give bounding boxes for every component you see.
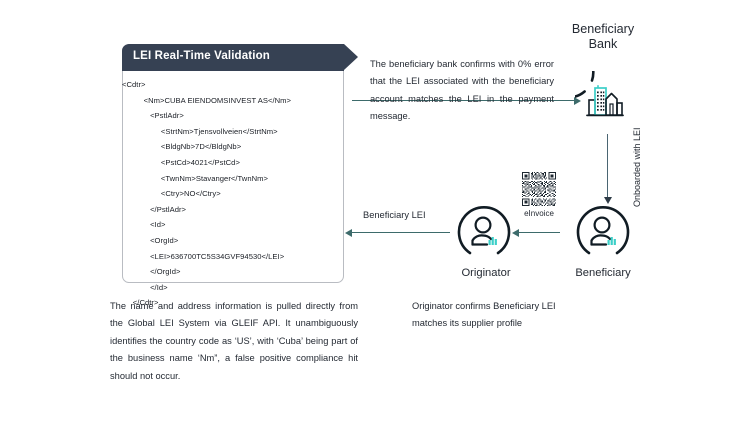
xml-line: <Ctry>NO</Ctry> (122, 186, 344, 202)
arrow-beneficiary-to-originator-head-icon (512, 229, 519, 237)
xml-line: <StrtNm>Tjensvollveien</StrtNm> (122, 124, 344, 140)
arrow-originator-beneficiary-lei (352, 232, 450, 233)
beneficiary-label: Beneficiary (545, 266, 661, 281)
beneficiary-lei-label: Beneficiary LEI (363, 210, 426, 220)
right-caption-text: Originator confirms Beneficiary LEI matc… (412, 298, 584, 333)
diagram-canvas: LEI Real-Time Validation <Cdtr> <Nm>CUBA… (0, 0, 750, 422)
xml-line: </OrgId> (122, 264, 344, 280)
xml-line: <TwnNm>Stavanger</TwnNm> (122, 171, 344, 187)
xml-line: </Cdtr> (122, 295, 344, 311)
arrow-bank-to-beneficiary (607, 134, 608, 200)
xml-line: <BldgNb>7D</BldgNb> (122, 139, 344, 155)
arrow-originator-beneficiary-lei-head-icon (345, 229, 352, 237)
onboarded-with-lei-label: Onboarded with LEI (632, 127, 642, 207)
einvoice-label: eInvoice (513, 209, 565, 218)
xml-code-block: <Cdtr> <Nm>CUBA EIENDOMSINVEST AS</Nm> <… (122, 71, 344, 283)
beneficiary-icon (575, 204, 631, 260)
originator-label: Originator (428, 266, 544, 281)
einvoice-qr-code-icon (521, 171, 557, 207)
xml-line: <PstCd>4021</PstCd> (122, 155, 344, 171)
xml-line: <LEI>636700TC5S34GVF94530</LEI> (122, 249, 344, 265)
beneficiary-bank-confirm-text: The beneficiary bank confirms with 0% er… (370, 56, 554, 126)
xml-line: <PstlAdr> (122, 108, 344, 124)
arrow-beneficiary-to-originator (518, 232, 560, 233)
xml-line: <Nm>CUBA EIENDOMSINVEST AS</Nm> (122, 93, 344, 109)
arrow-bank-to-beneficiary-head-icon (604, 197, 612, 204)
xml-line: </Id> (122, 280, 344, 296)
xml-line: </PstlAdr> (122, 202, 344, 218)
xml-line: <Id> (122, 217, 344, 233)
left-caption-text: The name and address information is pull… (110, 298, 358, 385)
xml-line: <OrgId> (122, 233, 344, 249)
xml-line: <Cdtr> (122, 77, 344, 93)
beneficiary-bank-icon (575, 71, 631, 127)
originator-icon (456, 204, 512, 260)
card-title: LEI Real-Time Validation (133, 50, 270, 62)
beneficiary-bank-label: Beneficiary Bank (548, 22, 658, 52)
card-header-chevron-icon (344, 44, 358, 70)
